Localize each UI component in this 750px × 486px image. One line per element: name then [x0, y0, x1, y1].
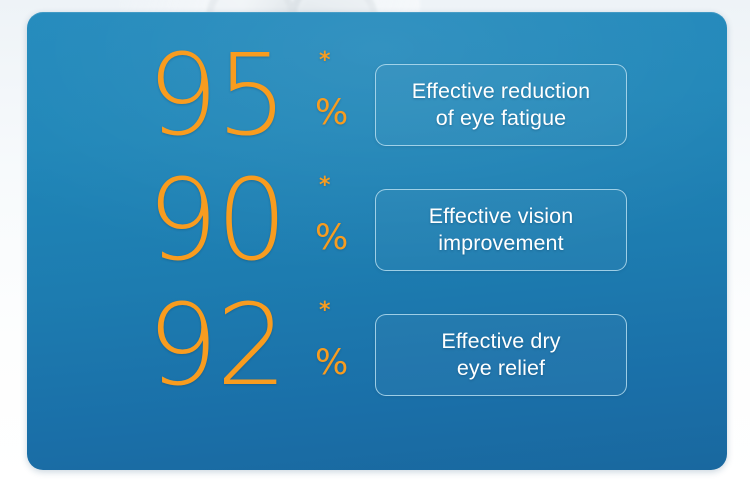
asterisk-icon: * — [319, 181, 328, 190]
stat-label-box-1[interactable]: Effective reduction of eye fatigue — [375, 64, 627, 146]
page-root: 95 * % Effective reduction of eye fatigu… — [0, 0, 750, 486]
stat-label-box-3[interactable]: Effective dry eye relief — [375, 314, 627, 396]
metric-unit: % — [315, 346, 348, 381]
metric-92: 92 * % — [147, 300, 357, 410]
metric-90: 90 * % — [147, 175, 357, 285]
metric-value: 92 — [147, 291, 286, 401]
stat-label-text: Effective vision improvement — [419, 203, 584, 257]
asterisk-icon: * — [319, 306, 328, 315]
stat-label-text: Effective dry eye relief — [431, 328, 570, 382]
metric-value: 90 — [147, 166, 286, 276]
statistics-card: 95 * % Effective reduction of eye fatigu… — [27, 12, 727, 470]
metric-95: 95 * % — [147, 50, 357, 160]
stat-row: 92 * % Effective dry eye relief — [147, 300, 677, 410]
statistics-list: 95 * % Effective reduction of eye fatigu… — [27, 12, 727, 470]
stat-label-box-2[interactable]: Effective vision improvement — [375, 189, 627, 271]
metric-unit: % — [315, 221, 348, 256]
stat-row: 90 * % Effective vision improvement — [147, 175, 677, 285]
metric-unit: % — [315, 96, 348, 131]
stat-label-text: Effective reduction of eye fatigue — [402, 78, 600, 132]
metric-value: 95 — [147, 41, 286, 151]
stat-row: 95 * % Effective reduction of eye fatigu… — [147, 50, 677, 160]
asterisk-icon: * — [319, 56, 328, 65]
